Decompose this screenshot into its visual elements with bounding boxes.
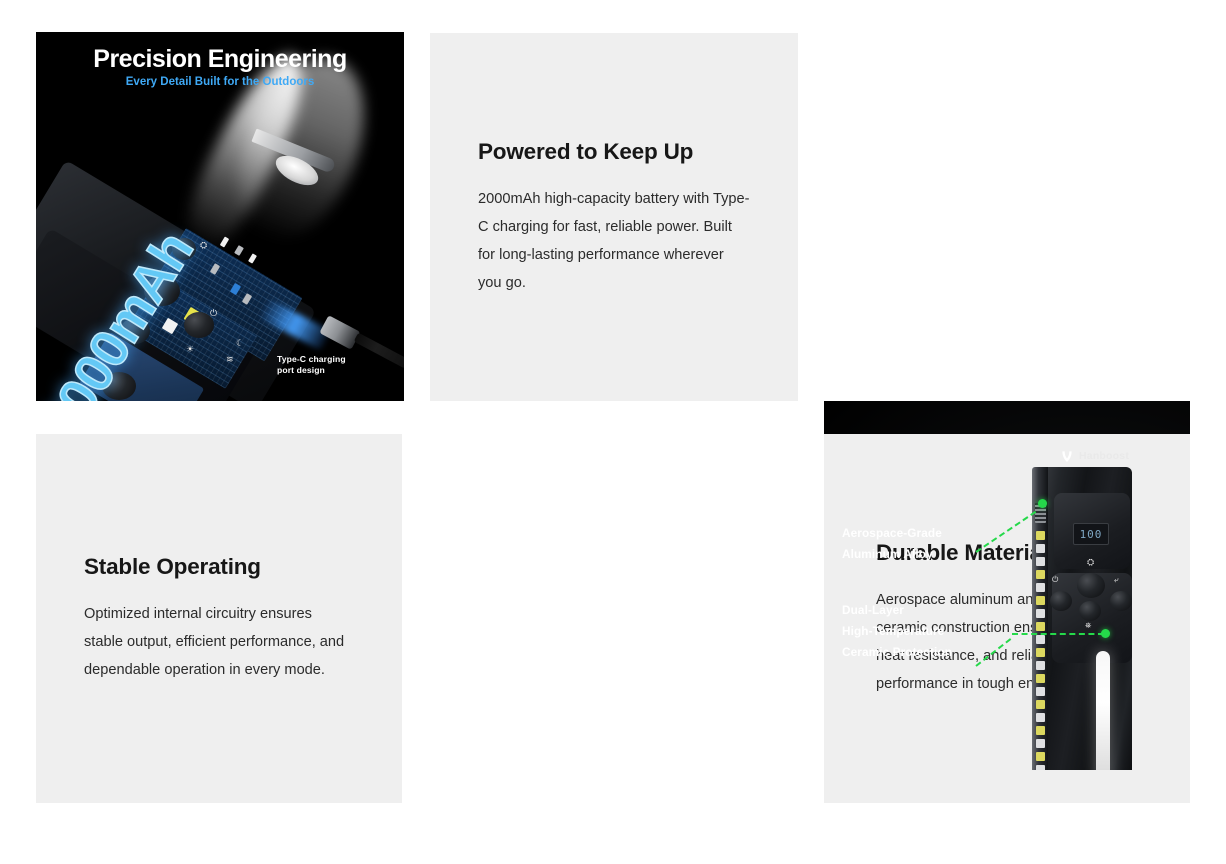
strip-segment	[1036, 596, 1045, 605]
strip-segment	[1036, 531, 1045, 540]
callout-line1: Dual-Layer	[842, 603, 904, 617]
strip-segment	[1036, 713, 1045, 722]
strip-segment	[1036, 739, 1045, 748]
callout-line2: High-Temperature	[842, 624, 944, 638]
chip	[234, 245, 244, 256]
feature-image-precision-engineering-top: Precision Engineering Every Detail Built…	[36, 32, 404, 401]
cell-title: Stable Operating	[84, 553, 354, 580]
bulb-icon: ☀	[186, 344, 194, 355]
strip-segment	[1036, 765, 1045, 770]
callout-aerospace-grade: Aerospace-Grade Aluminum Alloy	[842, 523, 942, 565]
power-icon: ⏻	[210, 308, 217, 319]
strip-segment	[1036, 557, 1045, 566]
display-readout: 100	[1073, 523, 1109, 545]
hanboost-mark-icon	[1060, 449, 1074, 463]
cell-title: Powered to Keep Up	[478, 138, 750, 165]
moon-icon: ☾	[236, 338, 244, 349]
left-button	[1050, 591, 1072, 611]
type-c-port-label-line1: Type-C charging	[277, 354, 346, 364]
strip-segment	[1036, 544, 1045, 553]
strip-segment	[1036, 583, 1045, 592]
signal-icon: ≋	[226, 354, 234, 365]
type-c-port-label: Type-C charging port design	[277, 354, 346, 376]
usb-cable	[354, 333, 404, 369]
strip-segment	[1036, 726, 1045, 735]
bulb-icon: ⛯	[1085, 621, 1091, 631]
strip-segment	[1036, 622, 1045, 631]
strip-segment	[1036, 648, 1045, 657]
right-button	[1110, 591, 1132, 611]
strip-segment	[1036, 752, 1045, 761]
brand-logo: Hanboost	[1060, 449, 1129, 463]
power-icon: ⏻	[1052, 575, 1058, 585]
strip-segment	[1036, 687, 1045, 696]
feature-text-stable-operating: Stable Operating Optimized internal circ…	[36, 434, 402, 803]
brand-name: Hanboost	[1079, 450, 1129, 462]
callout-dot-aluminum	[1038, 499, 1047, 508]
strip-segment	[1036, 661, 1045, 670]
hero-title: Precision Engineering	[36, 45, 404, 74]
bottom-button	[1079, 601, 1101, 621]
strip-segment	[1036, 700, 1045, 709]
callout-dash-ceramic-horizontal	[1012, 633, 1104, 635]
cell-body: Optimized internal circuitry ensures sta…	[84, 600, 354, 684]
strip-segment	[1036, 609, 1045, 618]
flashlight-icon: ⛭	[200, 240, 207, 251]
callout-line3: Ceramic Protection	[842, 645, 952, 659]
strip-segment	[1036, 635, 1045, 644]
callout-line2: Aluminum Alloy	[842, 547, 933, 561]
callout-line1: Aerospace-Grade	[842, 526, 942, 540]
feature-text-powered-to-keep-up: Powered to Keep Up 2000mAh high-capacity…	[430, 33, 798, 401]
mode-icon: ⤶	[1114, 575, 1118, 585]
chip	[248, 253, 257, 263]
hero-subtitle: Every Detail Built for the Outdoors	[36, 76, 404, 88]
ceramic-segment-strip	[1036, 531, 1045, 770]
center-button	[1077, 573, 1105, 598]
lamp-icon: ⛭	[1087, 557, 1094, 568]
callout-dual-layer-ceramic: Dual-Layer High-Temperature Ceramic Prot…	[842, 600, 952, 663]
usb-c-connector	[319, 315, 360, 350]
product-feature-grid: Precision Engineering Every Detail Built…	[0, 0, 1226, 864]
strip-segment	[1036, 570, 1045, 579]
led-light-bar	[1096, 651, 1110, 770]
strip-segment	[1036, 674, 1045, 683]
callout-dot-ceramic	[1101, 629, 1110, 638]
cell-body: 2000mAh high-capacity battery with Type-…	[478, 185, 750, 297]
type-c-port-label-line2: port design	[277, 365, 325, 375]
